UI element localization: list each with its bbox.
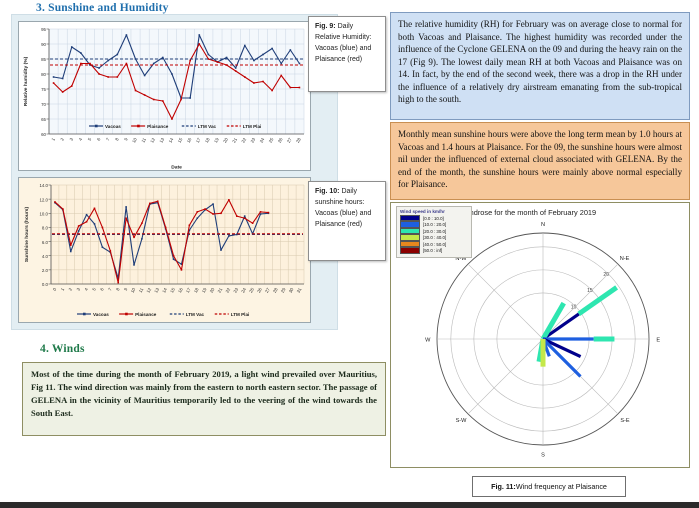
svg-text:17: 17	[185, 287, 192, 294]
svg-text:LTM Vac: LTM Vac	[198, 124, 217, 129]
svg-text:11: 11	[138, 287, 145, 294]
svg-text:17: 17	[195, 137, 202, 144]
svg-text:10.0: 10.0	[39, 211, 48, 216]
svg-text:20: 20	[222, 137, 229, 144]
svg-text:2: 2	[68, 287, 74, 292]
svg-text:16: 16	[186, 137, 193, 144]
svg-text:1: 1	[60, 287, 66, 292]
svg-text:7: 7	[107, 287, 113, 292]
svg-text:5: 5	[91, 287, 97, 292]
svg-text:1: 1	[50, 137, 56, 142]
svg-text:S: S	[541, 453, 545, 459]
sunshine-paragraph: Monthly mean sunshine hours were above t…	[390, 122, 690, 200]
windrose-legend-label: [40.0 : 50.0]	[423, 242, 446, 247]
windrose-legend-row: [40.0 : 50.0]	[400, 241, 468, 247]
figure-11-caption-text: Wind frequency at Plaisance	[516, 482, 607, 491]
svg-text:29: 29	[280, 287, 287, 294]
svg-text:31: 31	[296, 287, 303, 294]
charts-panel: 6065707580859095Relative humidity (%)123…	[11, 14, 338, 330]
svg-text:8.0: 8.0	[42, 226, 49, 231]
svg-text:27: 27	[286, 137, 293, 144]
windrose-legend-row: [50.0 : inf]	[400, 248, 468, 254]
svg-text:75: 75	[41, 87, 46, 92]
svg-text:30: 30	[288, 287, 295, 294]
sunshine-hours-svg: 0.02.04.06.08.010.012.014.0Sunshine hour…	[19, 178, 310, 322]
humidity-paragraph: The relative humidity (RH) for February …	[390, 12, 690, 120]
svg-text:70: 70	[41, 102, 46, 107]
svg-text:25: 25	[268, 137, 275, 144]
svg-text:10: 10	[130, 287, 137, 294]
svg-text:13: 13	[158, 137, 165, 144]
svg-text:14: 14	[161, 287, 168, 294]
windrose-legend-title: Wind speed in km/hr	[400, 209, 468, 214]
figure-11-caption: Fig. 11: Wind frequency at Plaisance	[472, 476, 626, 497]
svg-text:95: 95	[41, 27, 46, 32]
svg-text:19: 19	[213, 137, 220, 144]
svg-text:Plaisance: Plaisance	[147, 124, 169, 129]
windrose-legend-label: [20.0 : 30.0]	[423, 229, 446, 234]
svg-text:S-W: S-W	[456, 418, 468, 424]
svg-text:5: 5	[87, 137, 93, 142]
svg-text:7: 7	[105, 137, 111, 142]
svg-text:22: 22	[240, 137, 247, 144]
svg-text:26: 26	[277, 137, 284, 144]
svg-text:18: 18	[204, 137, 211, 144]
svg-text:18: 18	[193, 287, 200, 294]
svg-text:65: 65	[41, 117, 46, 122]
figure-10-caption-label: Fig. 10:	[315, 188, 340, 195]
svg-text:LTM Plai: LTM Plai	[243, 124, 262, 129]
svg-text:0: 0	[52, 287, 58, 292]
svg-text:Sunshine hours (hours): Sunshine hours (hours)	[24, 207, 30, 263]
svg-text:23: 23	[250, 137, 257, 144]
svg-text:8: 8	[115, 287, 121, 292]
winds-paragraph: Most of the time during the month of Feb…	[22, 362, 386, 436]
svg-text:LTM Plai: LTM Plai	[231, 312, 250, 317]
section-heading-winds: 4. Winds	[40, 343, 85, 355]
windrose-legend-label: [50.0 : inf]	[423, 248, 442, 253]
svg-text:N-E: N-E	[620, 256, 630, 262]
svg-text:Vacoas: Vacoas	[105, 124, 121, 129]
windrose-legend-row: [0.0 : 10.0]	[400, 215, 468, 221]
page-bottom-bar	[0, 502, 699, 508]
svg-text:LTM Vac: LTM Vac	[186, 312, 205, 317]
svg-text:W: W	[425, 337, 431, 343]
figure-9-caption: Fig. 9: Daily Relative Humidity: Vacoas …	[308, 16, 386, 92]
svg-text:4: 4	[78, 137, 84, 142]
relative-humidity-chart: 6065707580859095Relative humidity (%)123…	[18, 21, 311, 171]
svg-text:3: 3	[75, 287, 81, 292]
svg-text:8: 8	[114, 137, 120, 142]
report-page: 3. Sunshine and Humidity 606570758085909…	[0, 0, 699, 508]
svg-text:15: 15	[587, 288, 593, 294]
svg-text:14: 14	[168, 137, 175, 144]
section-heading-sunshine-humidity: 3. Sunshine and Humidity	[36, 2, 169, 14]
svg-text:28: 28	[272, 287, 279, 294]
svg-text:20: 20	[209, 287, 216, 294]
svg-text:Vacoas: Vacoas	[93, 312, 109, 317]
svg-text:27: 27	[264, 287, 271, 294]
svg-text:14.0: 14.0	[39, 183, 48, 188]
svg-text:Plaisance: Plaisance	[135, 312, 157, 317]
sunshine-hours-chart: 0.02.04.06.08.010.012.014.0Sunshine hour…	[18, 177, 311, 323]
svg-text:24: 24	[259, 137, 266, 144]
svg-text:23: 23	[232, 287, 239, 294]
windrose-title: Windrose for the month of February 2019	[461, 208, 596, 217]
windrose-panel: 101520NN-EES-ESS-WWN-W Windrose for the …	[390, 202, 690, 468]
svg-text:15: 15	[177, 137, 184, 144]
svg-text:0.0: 0.0	[42, 282, 49, 287]
windrose-legend-row: [20.0 : 30.0]	[400, 228, 468, 234]
windrose-legend-swatch	[400, 247, 420, 254]
svg-text:E: E	[656, 337, 660, 343]
svg-text:12: 12	[149, 137, 156, 144]
windrose-legend-label: [0.0 : 10.0]	[423, 216, 444, 221]
svg-text:2.0: 2.0	[42, 268, 49, 273]
figure-9-caption-label: Fig. 9:	[315, 23, 336, 30]
svg-text:21: 21	[217, 287, 224, 294]
svg-text:4: 4	[83, 287, 89, 292]
svg-text:Date: Date	[171, 165, 182, 171]
svg-text:6: 6	[99, 287, 105, 292]
svg-text:19: 19	[201, 287, 208, 294]
svg-text:4.0: 4.0	[42, 254, 49, 259]
svg-text:16: 16	[177, 287, 184, 294]
svg-text:3: 3	[69, 137, 75, 142]
windrose-legend-label: [10.0 : 20.0]	[423, 222, 446, 227]
svg-text:10: 10	[131, 137, 138, 144]
svg-text:24: 24	[240, 287, 247, 294]
figure-11-caption-label: Fig. 11:	[491, 482, 516, 491]
svg-text:6: 6	[96, 137, 102, 142]
svg-text:S-E: S-E	[620, 418, 630, 424]
svg-text:12: 12	[145, 287, 152, 294]
figure-10-caption: Fig. 10: Daily sunshine hours: Vacoas (b…	[308, 181, 386, 261]
windrose-legend-label: [30.0 : 40.0]	[423, 235, 446, 240]
svg-text:90: 90	[41, 42, 46, 47]
svg-text:9: 9	[123, 137, 129, 142]
svg-text:Relative humidity (%): Relative humidity (%)	[23, 56, 29, 106]
windrose-legend-row: [30.0 : 40.0]	[400, 235, 468, 241]
svg-text:6.0: 6.0	[42, 240, 49, 245]
svg-text:12.0: 12.0	[39, 197, 48, 202]
svg-text:60: 60	[41, 132, 46, 137]
svg-text:22: 22	[224, 287, 231, 294]
svg-text:13: 13	[153, 287, 160, 294]
relative-humidity-svg: 6065707580859095Relative humidity (%)123…	[19, 22, 310, 170]
windrose-legend-row: [10.0 : 20.0]	[400, 222, 468, 228]
svg-text:2: 2	[59, 137, 65, 142]
svg-text:28: 28	[295, 137, 302, 144]
windrose-legend: Wind speed in km/hr [0.0 : 10.0][10.0 : …	[396, 206, 472, 258]
svg-text:9: 9	[123, 287, 129, 292]
svg-text:15: 15	[169, 287, 176, 294]
svg-text:85: 85	[41, 57, 46, 62]
svg-text:25: 25	[248, 287, 255, 294]
svg-text:80: 80	[41, 72, 46, 77]
svg-text:26: 26	[256, 287, 263, 294]
svg-text:10: 10	[571, 304, 577, 310]
svg-text:21: 21	[231, 137, 238, 144]
svg-text:11: 11	[140, 137, 147, 144]
svg-text:N: N	[541, 222, 545, 228]
svg-text:20: 20	[603, 272, 609, 278]
